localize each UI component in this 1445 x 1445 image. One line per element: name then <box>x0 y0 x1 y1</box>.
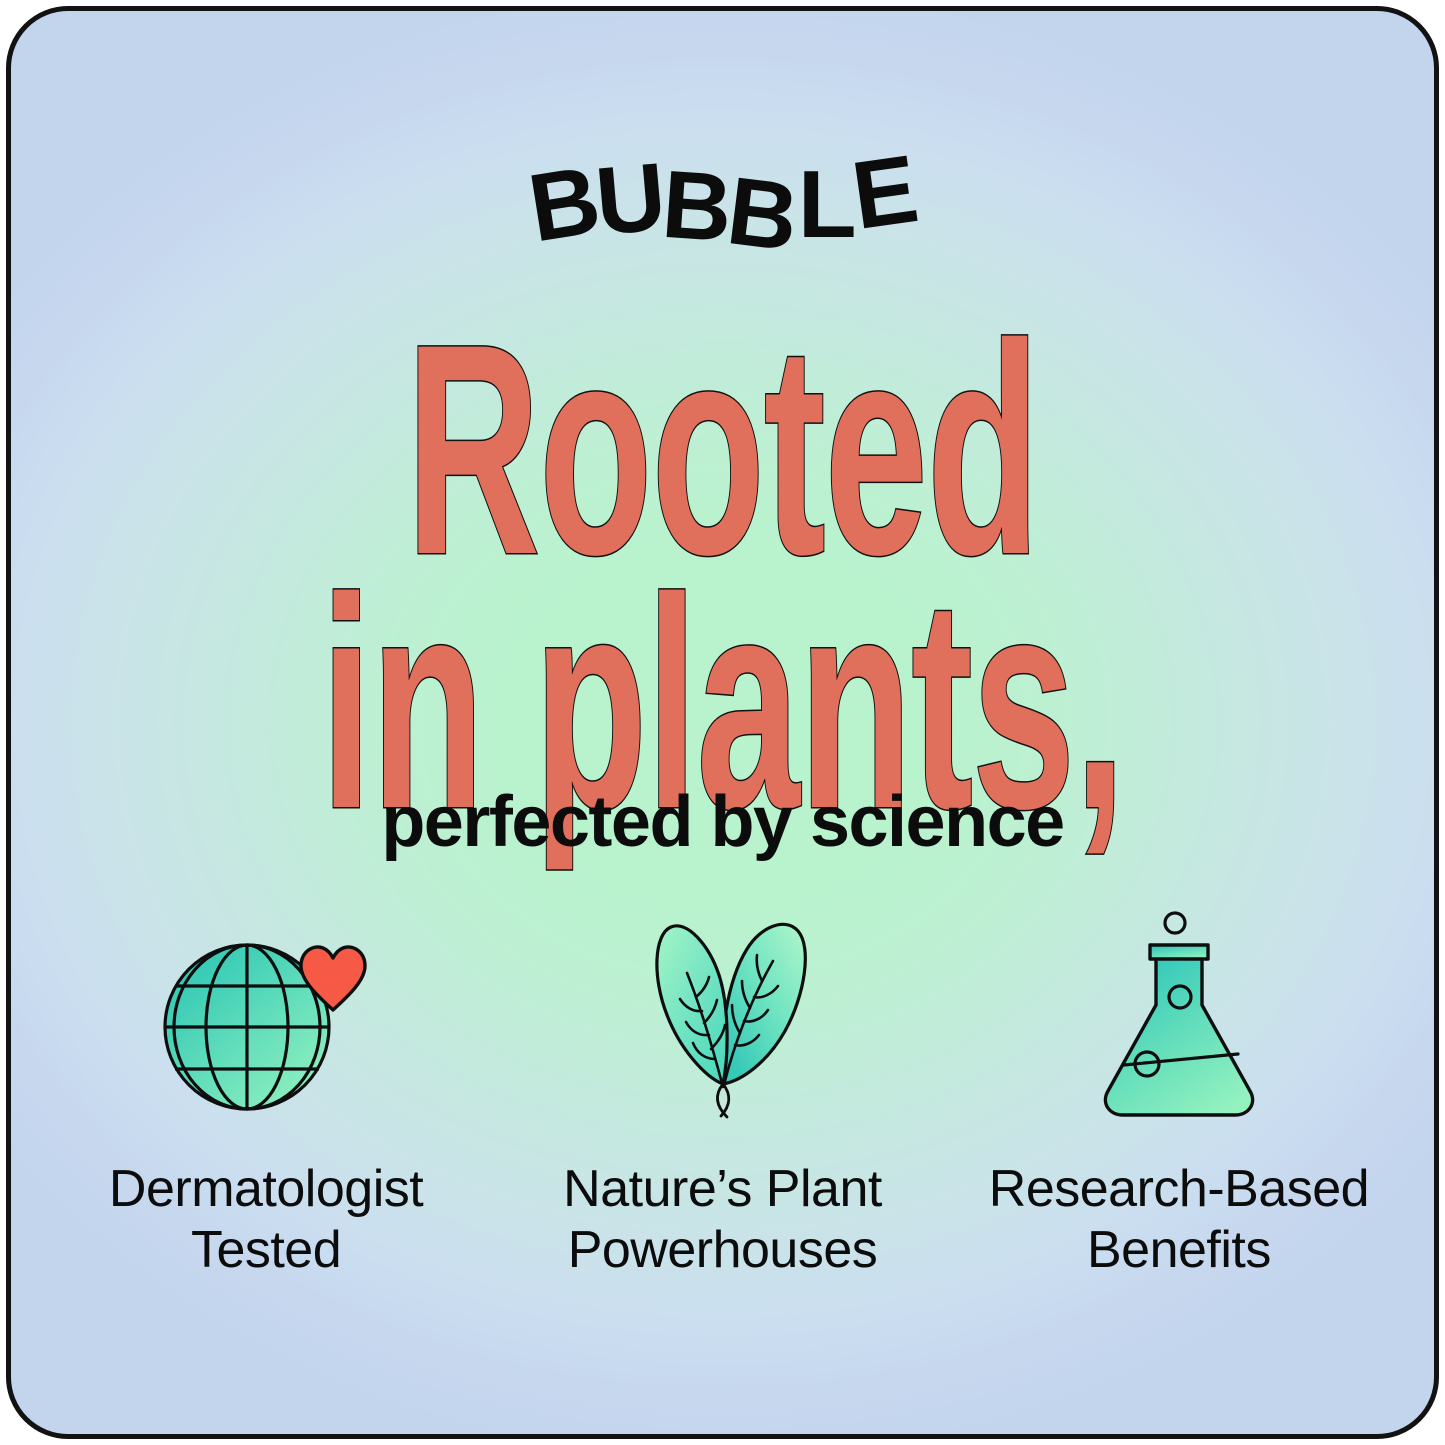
erlenmeyer-flask-icon <box>1084 911 1274 1121</box>
feature-dermatologist-tested: Dermatologist Tested <box>61 911 471 1282</box>
brand-wordmark: BUBBLE <box>11 151 1434 261</box>
feature-label-line-1: Nature’s Plant <box>563 1159 882 1220</box>
globe-heart-icon <box>159 911 374 1121</box>
headline-subhead: perfected by science <box>11 781 1434 863</box>
brand-letter-2: U <box>592 149 667 251</box>
brand-letter-6: E <box>847 141 922 245</box>
feature-label-natures-plant: Nature’s Plant Powerhouses <box>563 1159 882 1282</box>
feature-label-line-1: Dermatologist <box>109 1159 423 1220</box>
feature-natures-plant-powerhouses: Nature’s Plant Powerhouses <box>517 911 927 1282</box>
feature-research-based-benefits: Research-Based Benefits <box>974 911 1384 1282</box>
brand-letter-4: B <box>723 163 802 266</box>
feature-label-research-based: Research-Based Benefits <box>989 1159 1369 1282</box>
brand-letter-1: B <box>522 152 604 257</box>
two-leaves-heart-icon <box>623 911 823 1121</box>
feature-label-line-2: Benefits <box>989 1220 1369 1281</box>
feature-label-dermatologist: Dermatologist Tested <box>109 1159 423 1282</box>
brand-wordmark-letters: BUBBLE <box>529 151 917 247</box>
feature-row: Dermatologist Tested <box>61 911 1384 1282</box>
feature-label-line-2: Powerhouses <box>563 1220 882 1281</box>
promo-card: BUBBLE Rooted in plants, perfected by sc… <box>6 6 1439 1439</box>
brand-letter-3: B <box>659 157 733 257</box>
headline-block: Rooted in plants, <box>11 311 1434 841</box>
feature-label-line-1: Research-Based <box>989 1159 1369 1220</box>
feature-label-line-2: Tested <box>109 1220 423 1281</box>
brand-letter-5: L <box>798 157 855 253</box>
